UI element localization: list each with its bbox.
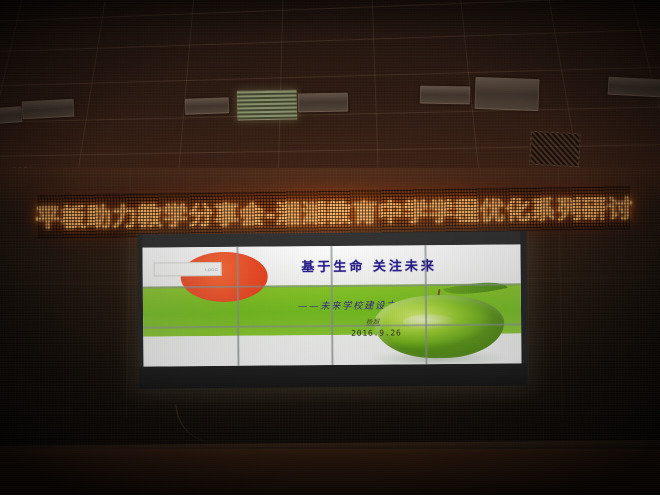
led-scrolling-banner: 平板助力教学分享会-湘湖教育中学学程优化系列研讨 [38, 185, 631, 238]
air-vent-2 [529, 131, 581, 168]
slide-logo-text: LOGO [205, 266, 218, 271]
sun-ellipse-graphic [180, 251, 267, 302]
presentation-slide[interactable]: LOGO 基于生命 关注未来 ——未来学校建设之理解 杨超 2016.9.26 [142, 244, 521, 366]
slide-date: 2016.9.26 [351, 329, 402, 338]
apple-body [374, 295, 505, 359]
bezel-bottom [138, 363, 527, 388]
led-banner-text: 平板助力教学分享会-湘湖教育中学学程优化系列研讨 [38, 185, 631, 238]
light-panel-10 [608, 77, 660, 98]
slide-logo: LOGO [154, 262, 222, 276]
ceiling [0, 0, 660, 195]
floor [0, 449, 660, 495]
lcd-video-wall[interactable]: LOGO 基于生命 关注未来 ——未来学校建设之理解 杨超 2016.9.26 [137, 231, 527, 388]
light-panel-5 [298, 93, 348, 113]
light-panel-4 [185, 97, 230, 115]
photo-scene: 平板助力教学分享会-湘湖教育中学学程优化系列研讨 LOGO 基于生命 关注未来 … [0, 0, 660, 495]
light-panel-7 [474, 77, 539, 111]
green-apple-graphic [362, 280, 514, 362]
light-panel-3 [237, 89, 298, 120]
light-panel-2 [22, 99, 75, 120]
apple-highlight [403, 314, 455, 330]
slide-title: 基于生命 关注未来 [301, 255, 437, 275]
light-panel-6 [420, 86, 470, 105]
